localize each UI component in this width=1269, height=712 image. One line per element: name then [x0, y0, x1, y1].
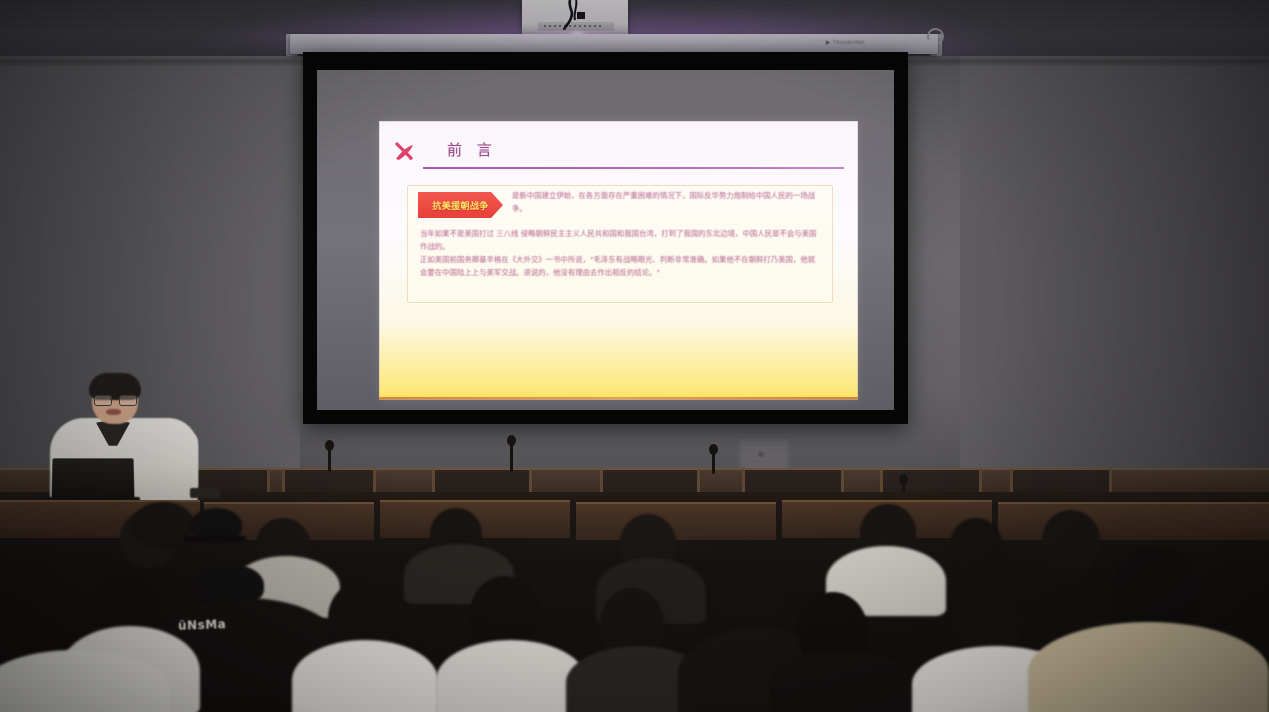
slide-paragraph-1: 当年如果不是美国打过 三八线 侵略朝鲜民主主义人民共和国和我国台湾，打到了我国的… [420, 228, 820, 253]
slide-title: 前 言 [447, 139, 497, 160]
microphone-head-icon [507, 435, 516, 446]
audience-shoulders [292, 640, 438, 712]
audience-shoulders [1028, 622, 1269, 712]
glasses-bridge [110, 399, 119, 400]
slide-body-paragraphs: 当年如果不是美国打过 三八线 侵略朝鲜民主主义人民共和国和我国台湾，打到了我国的… [420, 228, 820, 280]
microphone-head-icon [709, 444, 718, 455]
auditorium-seatback [998, 502, 1269, 540]
cap-brim [184, 536, 246, 543]
slide-banner-label: 抗美援朝战争 [418, 192, 503, 218]
wall-mark [758, 452, 764, 457]
audience-shoulders [770, 650, 920, 712]
desk-object [190, 488, 220, 498]
screen-brand-logo: ▶ThunderNet [826, 40, 865, 46]
glasses-lens-left [94, 395, 112, 406]
presentation-slide: 前 言 抗美援朝战争 是新中国建立伊始，在各方面存在严重困难的情况下，国际反华势… [379, 121, 858, 400]
lecture-hall-scene: ▶ThunderNet 前 言 抗美援 [0, 0, 1269, 712]
slide-body-card: 抗美援朝战争 是新中国建立伊始，在各方面存在严重困难的情况下，国际反华势力炮制给… [407, 185, 833, 303]
audience-shoulders [436, 640, 586, 712]
slide-header: 前 言 [393, 137, 844, 171]
audience-head [1042, 510, 1100, 570]
glasses-icon [94, 395, 136, 404]
glasses-lens-right [119, 395, 137, 406]
right-wall [960, 56, 1269, 516]
audience-area: üNsMa [0, 500, 1269, 712]
desk-mouse[interactable] [36, 492, 48, 500]
auditorium-seatback [576, 502, 776, 540]
presenter-mouth [106, 409, 121, 415]
slide-lead-paragraph: 是新中国建立伊始，在各方面存在严重困难的情况下，国际反华势力炮制给中国人民的一场… [512, 190, 820, 215]
projector-cable-icon [556, 0, 586, 30]
hammer-and-sickle-icon [393, 139, 417, 163]
jacket-graphic-text: üNsMa [178, 617, 227, 633]
slide-paragraph-2: 正如美国前国务卿基辛格在《大外交》一书中所说，"毛泽东有战略眼光、判断非常准确。… [420, 254, 820, 279]
brand-name: ThunderNet [833, 40, 865, 46]
audience-head [950, 518, 1002, 572]
microphone-head-icon [325, 440, 334, 451]
presenter-laptop[interactable] [51, 458, 134, 500]
wall-fixture [1030, 18, 1046, 34]
projection-screen-surface: 前 言 抗美援朝战争 是新中国建立伊始，在各方面存在严重困难的情况下，国际反华势… [317, 70, 894, 410]
microphone-head-icon [899, 474, 908, 485]
brand-mark-icon: ▶ [826, 40, 831, 46]
slide-banner-text: 抗美援朝战争 [432, 199, 488, 212]
slide-title-underline [423, 167, 844, 169]
slide-bottom-rule [379, 397, 858, 400]
projection-screen-frame: 前 言 抗美援朝战争 是新中国建立伊始，在各方面存在严重困难的情况下，国际反华势… [303, 52, 908, 424]
